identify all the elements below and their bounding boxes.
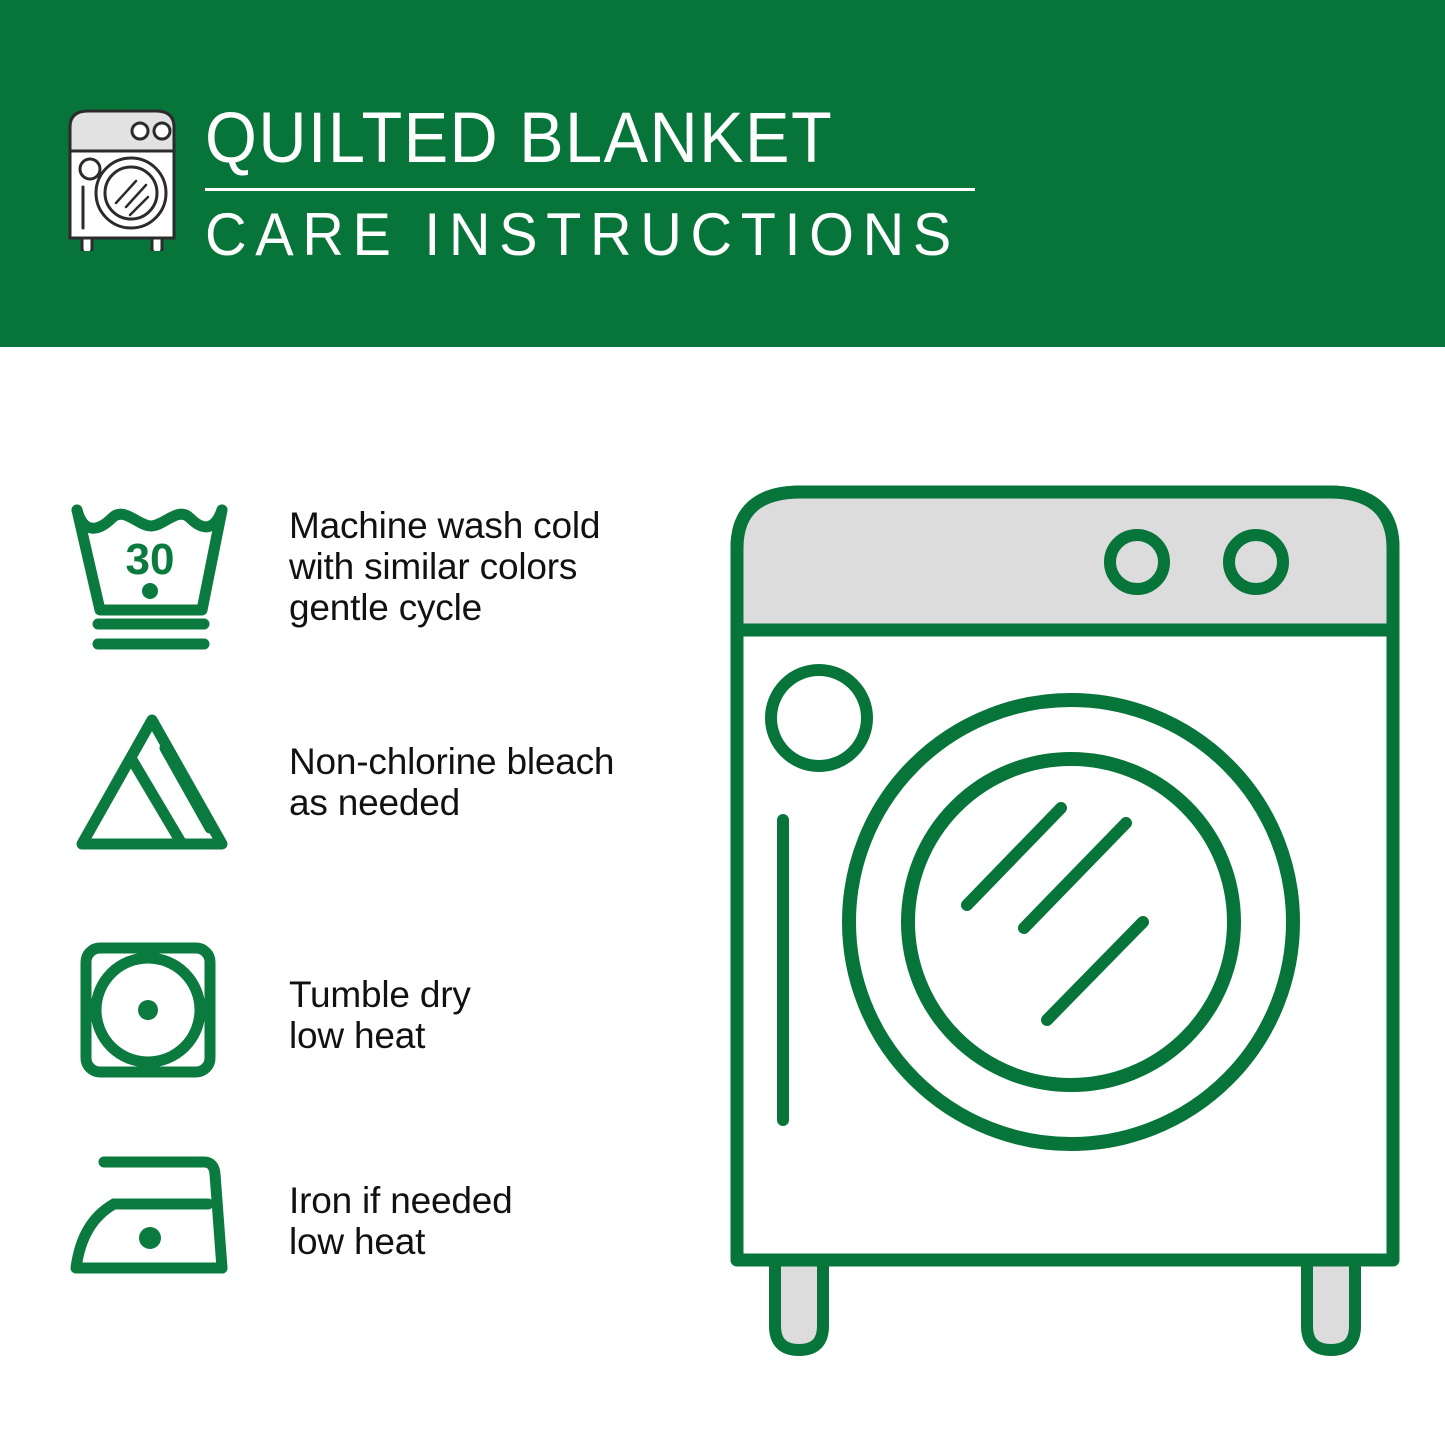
iron-icon [62, 1148, 242, 1318]
care-text-machine-wash: Machine wash cold with similar colors ge… [289, 505, 689, 628]
care-text-line: with similar colors [289, 546, 689, 587]
care-text-bleach: Non-chlorine bleach as needed [289, 741, 689, 823]
care-text-line: as needed [289, 782, 689, 823]
care-text-line: Non-chlorine bleach [289, 741, 689, 782]
care-text-line: gentle cycle [289, 587, 689, 628]
care-row-machine-wash: 30 Machine wash cold with similar colors… [0, 488, 700, 658]
care-text-line: Iron if needed [289, 1180, 689, 1221]
care-row-iron: Iron if needed low heat [0, 1148, 700, 1318]
knob-left [1110, 535, 1164, 589]
tumble-dry-icon [62, 932, 242, 1102]
care-text-tumble-dry: Tumble dry low heat [289, 974, 689, 1056]
care-row-bleach: Non-chlorine bleach as needed [0, 708, 700, 878]
care-text-line: low heat [289, 1015, 689, 1056]
care-text-line: low heat [289, 1221, 689, 1262]
header-divider [205, 188, 975, 191]
care-instructions-page: QUILTED BLANKET CARE INSTRUCTIONS 30 [0, 0, 1445, 1445]
care-text-line: Machine wash cold [289, 505, 689, 546]
care-row-tumble-dry: Tumble dry low heat [0, 932, 700, 1102]
header-title-block: QUILTED BLANKET CARE INSTRUCTIONS [205, 100, 995, 269]
care-text-line: Tumble dry [289, 974, 689, 1015]
drum-inner-ring [908, 759, 1234, 1085]
non-chlorine-bleach-triangle-icon [62, 708, 242, 878]
wash-tub-30-icon: 30 [62, 488, 242, 658]
control-panel [737, 492, 1393, 630]
washing-machine-illustration [715, 470, 1415, 1360]
page-subtitle: CARE INSTRUCTIONS [205, 201, 963, 269]
detergent-indicator [771, 670, 867, 766]
header-banner: QUILTED BLANKET CARE INSTRUCTIONS [0, 0, 1445, 347]
page-title: QUILTED BLANKET [205, 100, 948, 178]
care-text-iron: Iron if needed low heat [289, 1180, 689, 1262]
wash-temperature-label: 30 [126, 535, 175, 584]
washing-machine-logo-icon [64, 103, 186, 251]
knob-right [1229, 535, 1283, 589]
